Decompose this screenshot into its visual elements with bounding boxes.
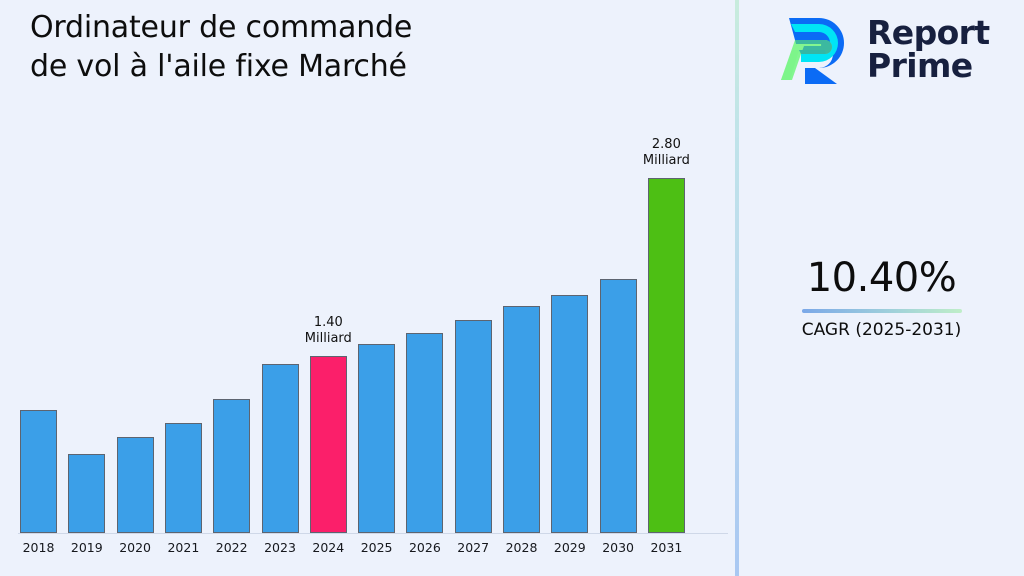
x-tick-2018: 2018 xyxy=(15,540,63,555)
bar-2022 xyxy=(213,399,250,533)
x-tick-2031: 2031 xyxy=(642,540,690,555)
bar-2030 xyxy=(600,279,637,533)
report-prime-r-logo-icon xyxy=(775,10,853,88)
bar-2019 xyxy=(68,454,105,533)
x-tick-2024: 2024 xyxy=(304,540,352,555)
x-tick-2027: 2027 xyxy=(449,540,497,555)
chart-panel: Ordinateur de commande de vol à l'aile f… xyxy=(0,0,737,576)
x-tick-2028: 2028 xyxy=(498,540,546,555)
bar-2028 xyxy=(503,306,540,533)
cagr-caption: CAGR (2025-2031) xyxy=(739,320,1024,340)
bar-2021 xyxy=(165,423,202,533)
x-tick-2029: 2029 xyxy=(546,540,594,555)
x-tick-2020: 2020 xyxy=(111,540,159,555)
brand-name-line1: Report xyxy=(867,16,990,49)
infographic-root: Ordinateur de commande de vol à l'aile f… xyxy=(0,0,1024,576)
bar-2025 xyxy=(358,344,395,533)
bar-2023 xyxy=(262,364,299,533)
bar-2018 xyxy=(20,410,57,533)
x-tick-2026: 2026 xyxy=(401,540,449,555)
x-axis-line xyxy=(18,533,728,534)
x-tick-2025: 2025 xyxy=(353,540,401,555)
value-label-2031: 2.80 Milliard xyxy=(621,137,711,169)
cagr-block: 10.40% CAGR (2025-2031) xyxy=(739,255,1024,340)
x-tick-2030: 2030 xyxy=(594,540,642,555)
brand-name: Report Prime xyxy=(867,16,990,82)
cagr-divider-rule xyxy=(802,309,962,313)
x-tick-2021: 2021 xyxy=(159,540,207,555)
brand-panel: Report Prime 10.40% CAGR (2025-2031) xyxy=(739,0,1024,576)
bar-2026 xyxy=(406,333,443,533)
cagr-value: 10.40% xyxy=(739,255,1024,301)
bar-2024 xyxy=(310,356,347,534)
bar-2029 xyxy=(551,295,588,533)
bar-2027 xyxy=(455,320,492,533)
bar-chart-plot: 2018201920202021202220232024202520262027… xyxy=(0,0,737,576)
x-tick-2019: 2019 xyxy=(63,540,111,555)
bar-series xyxy=(0,0,737,576)
brand-logo: Report Prime xyxy=(775,10,990,88)
x-tick-2023: 2023 xyxy=(256,540,304,555)
brand-name-line2: Prime xyxy=(867,49,990,82)
bar-2020 xyxy=(117,437,154,533)
value-label-2024: 1.40 Milliard xyxy=(283,315,373,347)
x-tick-2022: 2022 xyxy=(208,540,256,555)
bar-2031 xyxy=(648,178,685,533)
